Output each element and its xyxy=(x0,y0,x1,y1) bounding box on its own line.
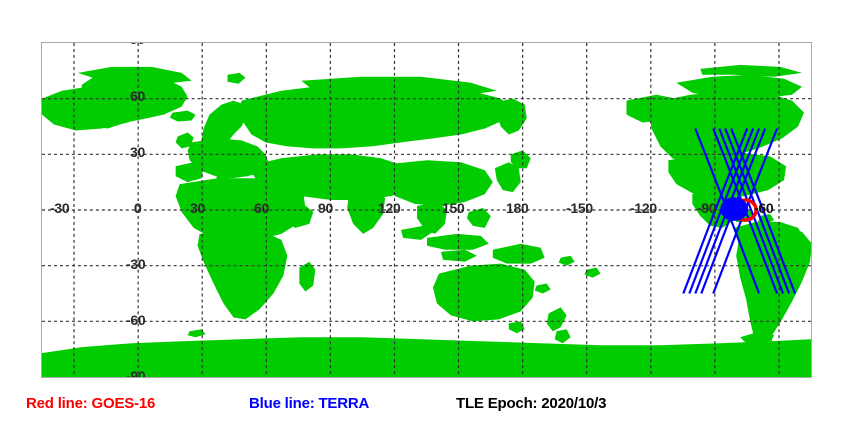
lon-label-120: 120 xyxy=(378,200,400,216)
landmass-layer xyxy=(42,65,811,377)
terra-position-marker xyxy=(720,197,748,221)
legend-bar: Red line: GOES-16 Blue line: TERRA TLE E… xyxy=(0,392,850,420)
legend-red-line-goes16: Red line: GOES-16 xyxy=(26,395,155,412)
lon-label-m120: -120 xyxy=(630,200,657,216)
lon-label-m60: -60 xyxy=(754,200,773,216)
lon-label-90: 90 xyxy=(318,200,333,216)
legend-tle-epoch: TLE Epoch: 2020/10/3 xyxy=(456,395,606,412)
lon-label-30: 30 xyxy=(190,200,205,216)
lon-label-0: 0 xyxy=(134,200,142,216)
lon-label-180: 180 xyxy=(506,200,528,216)
lat-label-60: 60 xyxy=(130,88,145,104)
lon-label-m90: -90 xyxy=(697,200,716,216)
lon-label-m30: -30 xyxy=(50,200,69,216)
lon-label-m150: -150 xyxy=(566,200,593,216)
lat-label-m90: -90 xyxy=(126,368,145,378)
lon-label-150: 150 xyxy=(442,200,464,216)
legend-blue-line-terra: Blue line: TERRA xyxy=(249,395,369,412)
lat-label-m30: -30 xyxy=(126,256,145,272)
lat-label-m60: -60 xyxy=(126,312,145,328)
world-map-canvas xyxy=(42,43,811,377)
lat-label-90: 90 xyxy=(130,42,145,47)
satellite-ground-track-map: 90 60 30 0 -30 -60 -90 -30 0 30 60 90 12… xyxy=(0,0,850,425)
lat-label-30: 30 xyxy=(130,144,145,160)
map-frame: 90 60 30 0 -30 -60 -90 -30 0 30 60 90 12… xyxy=(41,42,812,378)
lon-label-60: 60 xyxy=(254,200,269,216)
